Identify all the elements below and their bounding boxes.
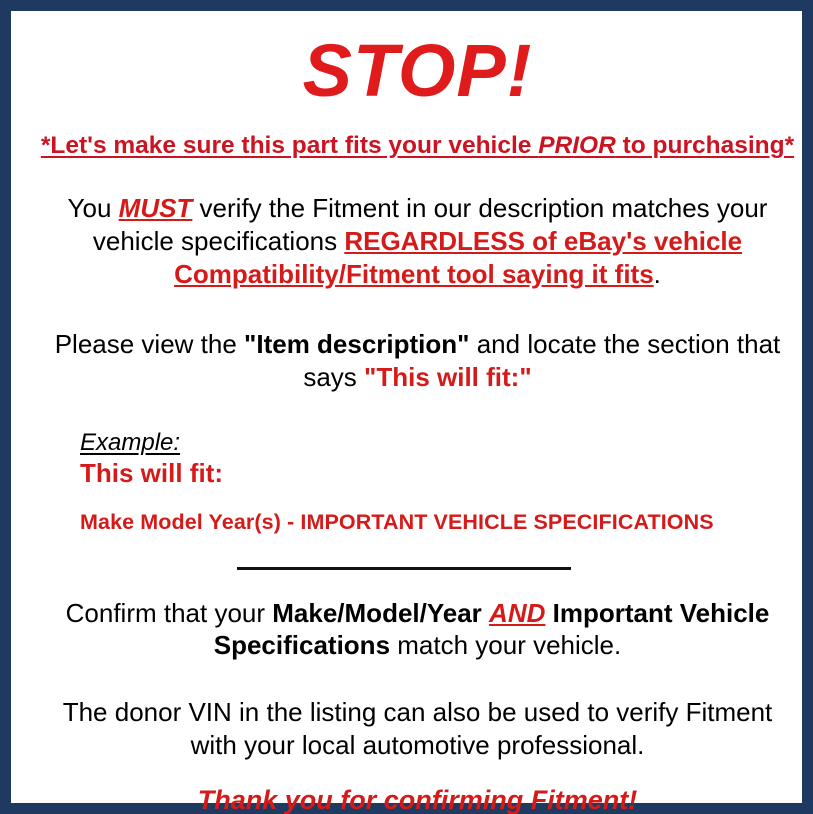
must-part-3: .: [654, 259, 661, 289]
confirm-part-1: Confirm that your: [66, 598, 273, 628]
example-fit-header: This will fit:: [80, 458, 799, 489]
example-spec-line: Make Model Year(s) - IMPORTANT VEHICLE S…: [80, 511, 799, 535]
example-label: Example:: [80, 429, 180, 456]
this-will-fit-quote: "This will fit:": [364, 362, 532, 392]
view-description-paragraph: Please view the "Item description" and l…: [36, 328, 799, 394]
view-part-1: Please view the: [55, 329, 244, 359]
item-description-label: "Item description": [244, 329, 469, 359]
fitment-notice-page: STOP! *Let's make sure this part fits yo…: [0, 0, 813, 814]
section-divider: [237, 567, 571, 570]
vin-paragraph: The donor VIN in the listing can also be…: [36, 696, 799, 762]
notice-content: STOP! *Let's make sure this part fits yo…: [22, 22, 813, 814]
confirm-part-2: match your vehicle.: [390, 630, 621, 660]
and-emphasis: AND: [489, 598, 545, 628]
divider-container: [36, 563, 799, 575]
notice-border-frame: STOP! *Let's make sure this part fits yo…: [0, 0, 813, 814]
tagline-suffix: to purchasing*: [616, 132, 794, 159]
must-emphasis: MUST: [119, 193, 193, 223]
thank-you-message: Thank you for confirming Fitment!: [36, 784, 799, 814]
confirm-space-1: [482, 598, 489, 628]
confirm-space-2: [545, 598, 552, 628]
tagline-emphasis: PRIOR: [538, 132, 616, 159]
make-model-year-label: Make/Model/Year: [272, 598, 482, 628]
confirm-paragraph: Confirm that your Make/Model/Year AND Im…: [36, 597, 799, 663]
tagline: *Let's make sure this part fits your veh…: [36, 132, 799, 160]
example-block: Example: This will fit: Make Model Year(…: [36, 430, 799, 535]
example-label-row: Example:: [80, 430, 799, 456]
must-paragraph: You MUST verify the Fitment in our descr…: [36, 192, 799, 290]
must-part-1: You: [68, 193, 119, 223]
page-title: STOP!: [36, 34, 799, 108]
tagline-prefix: *Let's make sure this part fits your veh…: [41, 132, 538, 159]
